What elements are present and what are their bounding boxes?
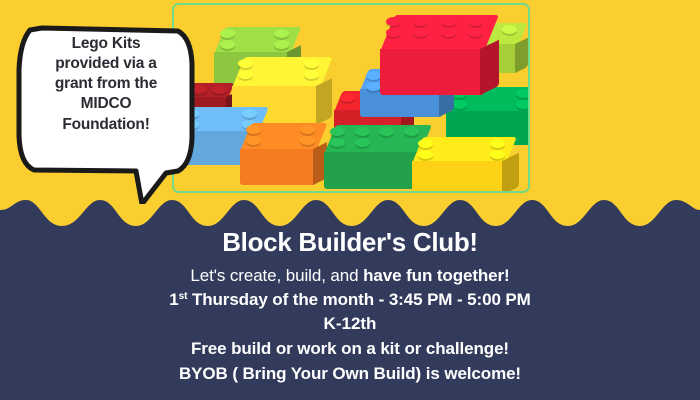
brick-stud xyxy=(340,93,355,102)
lego-brick-yellow-bottom-right xyxy=(412,137,506,193)
bubble-line-4: MIDCO xyxy=(24,94,188,114)
brick-side-face xyxy=(480,39,499,95)
brick-stud xyxy=(355,138,370,147)
brick-stud xyxy=(516,100,530,109)
lego-brick-green-front-right xyxy=(324,125,420,189)
brick-stud xyxy=(490,150,505,159)
lego-brick-pile-image xyxy=(174,5,528,191)
brick-stud xyxy=(355,127,370,136)
brick-stud xyxy=(304,59,319,68)
brick-stud xyxy=(238,70,253,79)
brick-stud xyxy=(468,17,483,26)
brick-stud xyxy=(300,125,315,134)
brick-stud xyxy=(246,136,261,145)
brick-front-face xyxy=(380,49,484,95)
schedule-line: 1st Thursday of the month - 3:45 PM - 5:… xyxy=(0,290,700,310)
brick-stud xyxy=(441,17,456,26)
speech-bubble: Lego Kits provided via a grant from the … xyxy=(8,18,204,204)
grade-range: K-12th xyxy=(0,314,700,334)
brick-stud xyxy=(330,138,345,147)
brick-stud xyxy=(490,139,505,148)
brick-stud xyxy=(366,71,381,80)
brick-stud xyxy=(300,136,315,145)
brick-stud xyxy=(242,109,257,118)
brick-stud xyxy=(220,40,235,49)
page-title: Block Builder's Club! xyxy=(0,227,700,258)
detail-line-2: BYOB ( Bring Your Own Build) is welcome! xyxy=(0,364,700,384)
brick-side-face xyxy=(502,153,519,193)
brick-stud xyxy=(274,29,289,38)
tagline-bold: have fun together! xyxy=(363,266,510,285)
flyer-poster: Lego Kits provided via a grant from the … xyxy=(0,0,700,400)
brick-stud xyxy=(274,40,289,49)
brick-side-face xyxy=(515,38,528,73)
brick-stud xyxy=(304,70,319,79)
brick-stud xyxy=(418,139,433,148)
bubble-line-1: Lego Kits xyxy=(24,34,188,54)
brick-stud xyxy=(516,89,530,98)
brick-stud xyxy=(238,59,253,68)
schedule-ordinal-number: 1 xyxy=(169,290,178,309)
brick-stud xyxy=(386,28,401,37)
bubble-line-2: provided via a xyxy=(24,54,188,74)
brick-stud xyxy=(404,127,419,136)
brick-stud xyxy=(212,85,227,94)
brick-stud xyxy=(418,150,433,159)
brick-stud xyxy=(246,125,261,134)
lego-brick-red-top-right xyxy=(380,15,484,95)
brick-side-face xyxy=(316,78,332,125)
tagline-regular: Let's create, build, and xyxy=(190,266,363,285)
club-info-block: Block Builder's Club! Let's create, buil… xyxy=(0,226,700,400)
brick-front-face xyxy=(324,152,420,189)
brick-stud xyxy=(386,17,401,26)
brick-stud xyxy=(330,127,345,136)
brick-stud xyxy=(452,100,467,109)
lego-brick-orange-front xyxy=(240,123,316,185)
lego-photo-frame xyxy=(172,3,530,193)
brick-stud xyxy=(366,82,381,91)
bubble-line-5: Foundation! xyxy=(24,115,188,135)
brick-stud xyxy=(502,25,517,34)
brick-side-face xyxy=(529,104,530,145)
schedule-rest: Thursday of the month - 3:45 PM - 5:00 P… xyxy=(187,290,530,309)
brick-stud xyxy=(220,29,235,38)
speech-bubble-text: Lego Kits provided via a grant from the … xyxy=(24,34,188,135)
bubble-line-3: grant from the xyxy=(24,74,188,94)
tagline: Let's create, build, and have fun togeth… xyxy=(0,266,700,286)
detail-line-1: Free build or work on a kit or challenge… xyxy=(0,339,700,359)
brick-stud xyxy=(468,28,483,37)
brick-front-face xyxy=(240,149,316,185)
brick-front-face xyxy=(412,161,506,193)
brick-stud xyxy=(441,28,456,37)
